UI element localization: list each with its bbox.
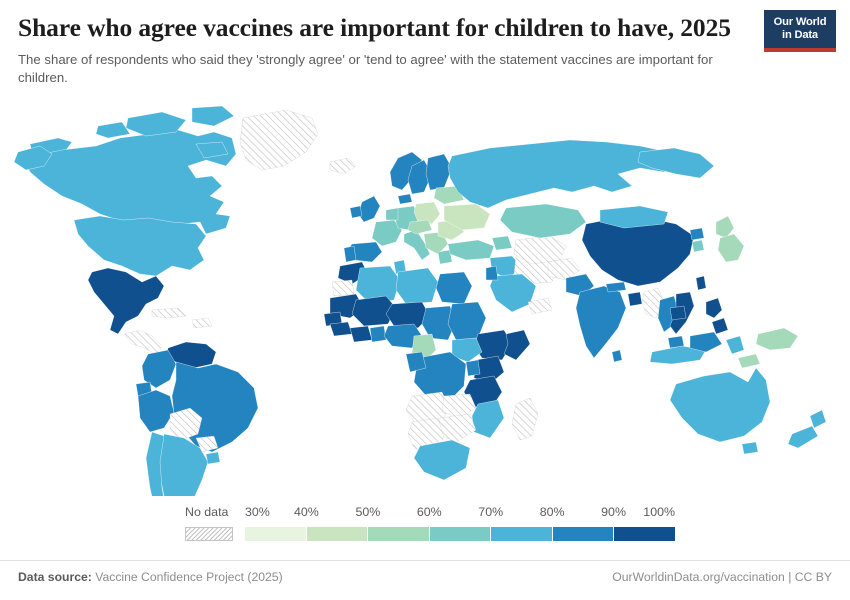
country-yemen-oman[interactable] — [528, 298, 552, 314]
country-netherlands-belgium[interactable] — [386, 208, 398, 220]
legend-tick-30: 30% — [245, 505, 270, 519]
country-north-korea[interactable] — [690, 228, 704, 240]
legend-tick-70: 70% — [478, 505, 503, 519]
country-somalia[interactable] — [504, 330, 530, 360]
legend-tick-90: 90% — [601, 505, 626, 519]
country-united-states[interactable] — [74, 216, 206, 276]
country-madagascar[interactable] — [512, 398, 538, 440]
country-canada-islands[interactable] — [192, 106, 234, 126]
country-japan[interactable] — [718, 234, 744, 262]
country-bangladesh[interactable] — [628, 292, 642, 306]
legend-bin-1[interactable] — [245, 527, 306, 541]
country-canada-islands[interactable] — [96, 122, 130, 138]
legend-tick-50: 50% — [355, 505, 380, 519]
country-taiwan[interactable] — [696, 276, 706, 290]
country-cambodia-laos[interactable] — [670, 306, 686, 320]
country-ireland[interactable] — [350, 206, 362, 218]
chart-footer: Data source: Vaccine Confidence Project … — [0, 560, 850, 600]
country-israel-jordan[interactable] — [486, 266, 498, 280]
country-turkey[interactable] — [448, 240, 494, 260]
legend-bin-4[interactable] — [429, 527, 491, 541]
owid-logo-line2: in Data — [782, 29, 818, 42]
legend-bin-5[interactable] — [490, 527, 552, 541]
owid-attribution[interactable]: OurWorldinData.org/vaccination | CC BY — [612, 570, 832, 584]
country-ghana[interactable] — [370, 326, 386, 342]
legend-tick-80: 80% — [540, 505, 565, 519]
world-choropleth-map[interactable] — [0, 96, 850, 496]
country-greenland[interactable] — [240, 110, 318, 170]
legend-tick-40: 40% — [294, 505, 319, 519]
country-papua-new-guinea[interactable] — [756, 328, 798, 350]
country-china[interactable] — [582, 218, 694, 286]
country-peru[interactable] — [138, 390, 174, 432]
data-source-value: Vaccine Confidence Project (2025) — [95, 570, 282, 584]
country-new-zealand[interactable] — [810, 410, 826, 428]
country-borneo[interactable] — [690, 332, 722, 352]
legend-ticks: 30%40%50%60%70%80%90%100% — [245, 505, 675, 525]
legend-tick-100: 100% — [643, 505, 675, 519]
country-iceland[interactable] — [330, 158, 356, 174]
chart-header: Share who agree vaccines are important f… — [0, 0, 850, 87]
country-mongolia[interactable] — [600, 206, 668, 228]
owid-logo[interactable]: Our World in Data — [764, 10, 836, 52]
map-legend: No data 30%40%50%60%70%80%90%100% — [0, 505, 850, 551]
country-denmark[interactable] — [398, 194, 412, 204]
country-new-zealand[interactable] — [788, 426, 818, 448]
data-source-label: Data source: — [18, 570, 92, 584]
country-mexico[interactable] — [88, 268, 164, 334]
country-south-africa[interactable] — [414, 440, 470, 480]
legend-no-data-swatch[interactable] — [185, 527, 233, 541]
country-hispaniola[interactable] — [192, 318, 212, 328]
chart-subtitle: The share of respondents who said they '… — [18, 51, 718, 87]
country-czechia-austria[interactable] — [408, 220, 432, 234]
legend-no-data-label: No data — [185, 505, 228, 519]
country-south-korea[interactable] — [692, 240, 704, 252]
country-timor[interactable] — [738, 354, 760, 368]
country-sri-lanka[interactable] — [612, 350, 622, 362]
country-zambia[interactable] — [442, 394, 476, 418]
country-western-sahara[interactable] — [332, 280, 354, 296]
country-libya[interactable] — [396, 268, 438, 304]
country-philippines[interactable] — [712, 318, 728, 334]
country-united-kingdom[interactable] — [358, 196, 380, 222]
country-cuba[interactable] — [152, 308, 186, 318]
country-egypt[interactable] — [436, 272, 472, 304]
page-title: Share who agree vaccines are important f… — [18, 14, 832, 42]
country-central-america[interactable] — [124, 330, 162, 354]
country-ivory-coast[interactable] — [350, 326, 372, 342]
legend-bin-6[interactable] — [552, 527, 614, 541]
country-sulawesi[interactable] — [726, 336, 744, 354]
country-tasmania[interactable] — [742, 442, 758, 454]
legend-color-ramp[interactable] — [245, 527, 675, 541]
country-uganda[interactable] — [466, 360, 480, 376]
world-map-svg[interactable] — [0, 96, 850, 496]
country-australia[interactable] — [670, 368, 770, 442]
legend-tick-60: 60% — [417, 505, 442, 519]
country-uruguay[interactable] — [206, 452, 220, 464]
country-philippines[interactable] — [706, 298, 722, 318]
country-portugal[interactable] — [344, 246, 356, 262]
country-caucasus[interactable] — [492, 236, 512, 250]
country-india[interactable] — [576, 286, 626, 358]
owid-logo-line1: Our World — [774, 16, 827, 29]
legend-bin-2[interactable] — [306, 527, 368, 541]
country-guinea[interactable] — [330, 322, 352, 336]
country-russia-east[interactable] — [638, 148, 714, 178]
legend-bin-3[interactable] — [367, 527, 429, 541]
country-nepal[interactable] — [606, 282, 626, 292]
legend-bin-7[interactable] — [613, 527, 675, 541]
country-finland[interactable] — [426, 154, 452, 190]
data-source: Data source: Vaccine Confidence Project … — [18, 570, 283, 584]
country-russia[interactable] — [448, 140, 680, 208]
country-kazakhstan[interactable] — [500, 204, 586, 238]
